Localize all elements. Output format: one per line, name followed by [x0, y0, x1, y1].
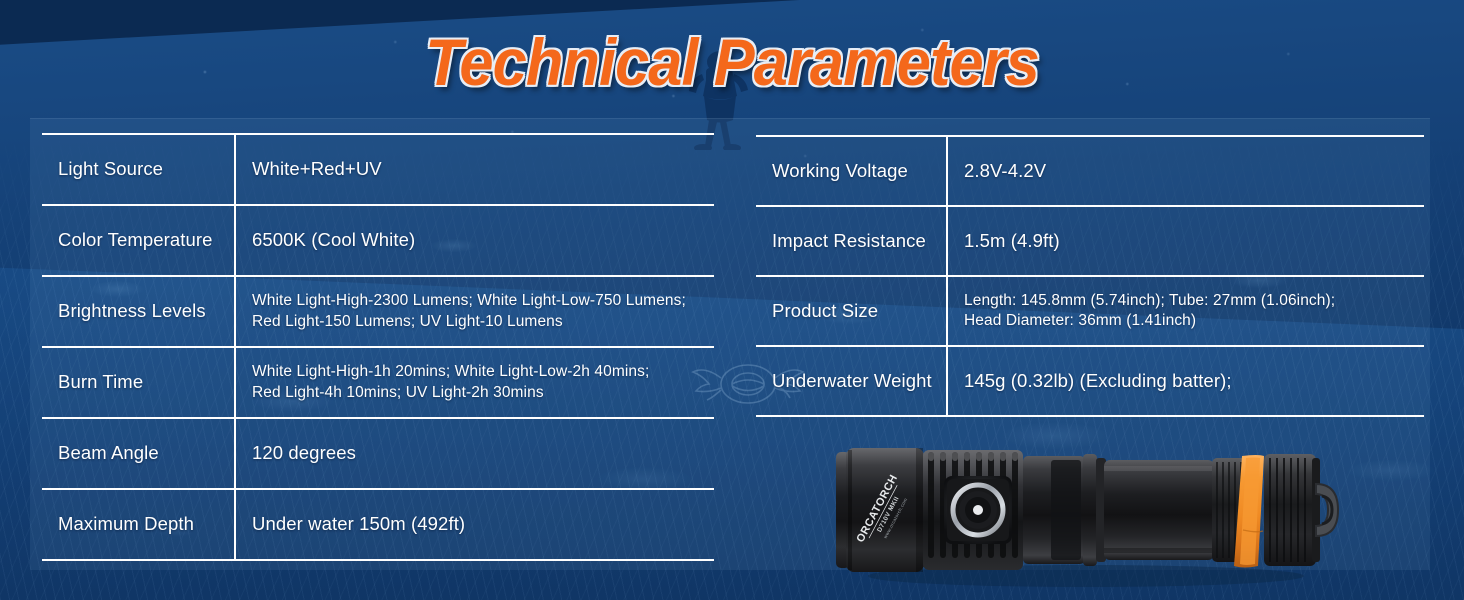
- spec-value: 6500K (Cool White): [235, 205, 714, 276]
- product-spec-banner: Technical Parameters Light Source White+…: [0, 0, 1464, 600]
- page-title: Technical Parameters: [51, 24, 1413, 100]
- table-row: Color Temperature 6500K (Cool White): [42, 205, 714, 276]
- spec-label: Underwater Weight: [756, 346, 947, 416]
- spec-label: Beam Angle: [42, 418, 235, 489]
- spec-value-line: White Light-High-1h 20mins; White Light-…: [252, 362, 714, 382]
- spec-value-line: Length: 145.8mm (5.74inch); Tube: 27mm (…: [964, 291, 1424, 311]
- spec-label: Impact Resistance: [756, 206, 947, 276]
- spec-label: Maximum Depth: [42, 489, 235, 560]
- spec-value: 1.5m (4.9ft): [947, 206, 1424, 276]
- flashlight-tail: [1264, 454, 1338, 566]
- table-row: Underwater Weight 145g (0.32lb) (Excludi…: [756, 346, 1424, 416]
- flashlight-body: [1023, 454, 1246, 566]
- spec-value: White Light-High-1h 20mins; White Light-…: [235, 347, 714, 418]
- table-row: Product Size Length: 145.8mm (5.74inch);…: [756, 276, 1424, 346]
- spec-label: Brightness Levels: [42, 276, 235, 347]
- table-row: Impact Resistance 1.5m (4.9ft): [756, 206, 1424, 276]
- table-row: Light Source White+Red+UV: [42, 134, 714, 205]
- spec-value-line: Red Light-150 Lumens; UV Light-10 Lumens: [252, 312, 714, 332]
- spec-label: Color Temperature: [42, 205, 235, 276]
- spec-label: Light Source: [42, 134, 235, 205]
- spec-value: Under water 150m (492ft): [235, 489, 714, 560]
- spec-value: White Light-High-2300 Lumens; White Ligh…: [235, 276, 714, 347]
- spec-value: White+Red+UV: [235, 134, 714, 205]
- table-row: Working Voltage 2.8V-4.2V: [756, 136, 1424, 206]
- flashlight-fins: [923, 450, 1023, 570]
- spec-label: Burn Time: [42, 347, 235, 418]
- spec-value-line: Head Diameter: 36mm (1.41inch): [964, 311, 1424, 331]
- dive-flashlight-image: ORCATORCH D710V MKII www.orcatorch.com: [818, 440, 1358, 600]
- spec-value: 145g (0.32lb) (Excluding batter);: [947, 346, 1424, 416]
- spec-value-line: White Light-High-2300 Lumens; White Ligh…: [252, 291, 714, 311]
- table-row: Beam Angle 120 degrees: [42, 418, 714, 489]
- table-row: Burn Time White Light-High-1h 20mins; Wh…: [42, 347, 714, 418]
- right-spec-table: Working Voltage 2.8V-4.2V Impact Resista…: [756, 135, 1424, 417]
- left-spec-table: Light Source White+Red+UV Color Temperat…: [42, 133, 714, 561]
- table-row: Brightness Levels White Light-High-2300 …: [42, 276, 714, 347]
- spec-value: 2.8V-4.2V: [947, 136, 1424, 206]
- spec-value: Length: 145.8mm (5.74inch); Tube: 27mm (…: [947, 276, 1424, 346]
- spec-label: Product Size: [756, 276, 947, 346]
- spec-value: 120 degrees: [235, 418, 714, 489]
- table-row: Maximum Depth Under water 150m (492ft): [42, 489, 714, 560]
- spec-value-line: Red Light-4h 10mins; UV Light-2h 30mins: [252, 383, 714, 403]
- flashlight-head: ORCATORCH D710V MKII www.orcatorch.com: [836, 448, 924, 572]
- spec-label: Working Voltage: [756, 136, 947, 206]
